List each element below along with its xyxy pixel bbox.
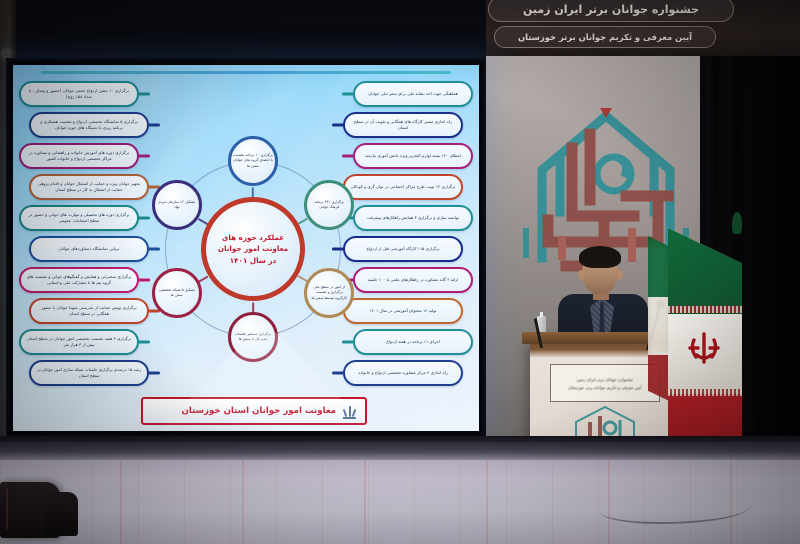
mindmap-node-text: برگزاری مستمر جلسات مدیر کل با سمن ها [231,330,275,345]
bubble-text: راه اندازی ۴ مرکز مشاوره تخصصی ازدواج و … [358,370,448,376]
slide-left-bubble: برپایی نمایشگاه دستاوردهای جوانان [29,236,149,262]
hub-line2: معاونت امور جوانان [218,243,288,255]
slide-right-bubble: اجرای ۱۱ برنامه در هفته ازدواج [353,329,473,355]
slide-left-bubble: برگزاری ۳ هفته نشست تخصصی امور جوانان در… [19,329,139,355]
slide-right-bubble: اعطای ۱۲۰ بسته لوازم التحریر ویژه دانش آ… [353,143,473,169]
conference-hall-scene: جشنواره جوانان برتر ایران زمین آیین معرف… [0,0,800,544]
slide-left-bubble: برگزاری پویش حمایت از تندرستی شهدا جوانا… [29,298,149,324]
mindmap-node-text: از امور در سطح ملی برگزاری و نشست کارگرو… [307,283,351,303]
bubble-text: هماهنگی جهت اخذ نشانه ملی برای سفر ملی ج… [368,91,457,97]
mindmap-node-text: تشکیل ۵ شبکه تخصصی سمن ها [155,286,199,301]
bubble-connector [138,93,150,96]
bubble-text: برگزاری سخنرانی و همایش و گفتگوهای جوانی… [26,274,132,287]
banner-subtitle-plaque: آیین معرفی و تکریم جوانان برتر خوزستان [494,26,716,48]
allah-emblem-icon [686,331,722,365]
slide-left-bubble: برگزاری ۱۰ جشن ازدواج جمعی جوانان (حضور … [19,81,139,107]
bubble-text: اجرای ۱۱ برنامه در هفته ازدواج [386,339,440,345]
bubble-text: برپایی نمایشگاه دستاوردهای جوانان [59,246,120,252]
flag-kufic-band-bottom [668,389,742,396]
slide-left-bubble: برگزاری سخنرانی و همایش و گفتگوهای جوانی… [19,267,139,293]
backdrop-top-banner: جشنواره جوانان برتر ایران زمین آیین معرف… [486,0,800,56]
slide-left-bubble: برگزاری دوره های تحصیلی و مهارت های جوان… [19,205,139,231]
bubble-text: تجهیز جوانان ویژه و حمایت از اشتغال جوان… [36,181,142,194]
flag-finial [732,212,742,234]
podium-sign-line1: جشنواره جوانان برتر ایران زمین [577,377,633,382]
banner-title-line2: آیین معرفی و تکریم جوانان برتر خوزستان [518,32,692,42]
slide-left-bubble: تجهیز جوانان ویژه و حمایت از اشتغال جوان… [29,174,149,200]
bubble-text: رشد ۱۵ درصدی برگزاری جلسات شبکه سازی امو… [36,367,142,380]
slide-left-column: برگزاری ۱۰ جشن ازدواج جمعی جوانان (حضور … [19,81,151,425]
mindmap-node-text: برگزاری ۱۰ برنامه نشست با اعضای گروه های… [231,151,275,171]
bubble-text: اعطای ۱۲۰ بسته لوازم التحریر ویژه دانش آ… [365,153,461,159]
slide-right-bubble: هماهنگی جهت اخذ نشانه ملی برای سفر ملی ج… [353,81,473,107]
banner-title-plaque: جشنواره جوانان برتر ایران زمین [488,0,734,22]
mindmap-node: برگزاری ۳۳۱ برنامه فرهنگ جوانی [304,180,354,230]
slide-top-rule [41,71,451,74]
slide-left-bubble: برگزاری دوره های آموزش خانواده و راهنمای… [19,143,139,169]
flag-green-band [668,228,742,314]
bubble-connector [342,93,354,96]
stage-edge [0,442,800,460]
mindmap-node-text: برگزاری ۳۳۱ برنامه فرهنگ جوانی [307,198,351,213]
mindmap-node: تشکیل ۵ شبکه تخصصی سمن ها [152,268,202,318]
slide-left-bubble: برگزاری ۵ نمایشگاه تخصصی ازدواج و نشست ه… [29,112,149,138]
bubble-text: ارائه ۴ گانه مشاوره در راهکارهای علمی تا… [368,277,459,283]
podium-sign: جشنواره جوانان برتر ایران زمین آیین معرف… [550,364,660,402]
slide-mindmap: برگزاری ۱۰ برنامه نشست با اعضای گروه های… [135,99,371,399]
slide-right-bubble: توانمند سازی و برگزاری ۳ همایش راهکارهای… [353,205,473,231]
flag-kufic-band-top [668,306,742,313]
bubble-text: برگزاری دوره های تحصیلی و مهارت های جوان… [26,212,132,225]
hub-line1: عملکرد حوزه های [218,232,288,244]
mindmap-node: برگزاری مستمر جلسات مدیر کل با سمن ها [228,312,278,362]
iran-national-emblem-icon [342,404,357,419]
bubble-text: برگزاری ۳ هفته نشست تخصصی امور جوانان در… [26,336,132,349]
hub-line3: در سال ۱۴۰۱ [218,255,288,267]
slide-footer-text: معاونت امور جوانان استان خوزستان [182,406,336,416]
mindmap-center-hub: عملکرد حوزه های معاونت امور جوانان در سا… [201,197,305,301]
bubble-text: برگزاری ۱۱۵ کارگاه آموزشی قبل از ازدواج [366,246,439,252]
speaker-ear-right [617,270,623,280]
mindmap-node-text: تشکیل ۱۲ سازمان مردم نهاد [155,198,199,213]
mindmap-node: برگزاری ۱۰ برنامه نشست با اعضای گروه های… [228,136,278,186]
speaker-hair [579,246,621,268]
bubble-text: برگزاری پویش حمایت از تندرستی شهدا جوانا… [36,305,142,318]
slide-left-bubble: رشد ۱۵ درصدی برگزاری جلسات شبکه سازی امو… [29,360,149,386]
bubble-text: برگزاری ۱۰ جشن ازدواج جمعی جوانان (حضور … [26,88,132,101]
projection-screen: برگزاری ۱۰ جشن ازدواج جمعی جوانان (حضور … [13,65,479,431]
bubble-text: برگزاری دوره های آموزش خانواده و راهنمای… [26,150,132,163]
bubble-text: توانمند سازی و برگزاری ۳ همایش راهکارهای… [367,215,459,221]
mindmap-node: تشکیل ۱۲ سازمان مردم نهاد [152,180,202,230]
podium-sign-line2: آیین معرفی و تکریم جوانان برتر خوزستان [569,385,642,390]
bubble-text: تولید ۱۲ محتوای آموزشی در سال ۱۴۰۱ [369,308,436,314]
banner-title-line1: جشنواره جوانان برتر ایران زمین [523,3,699,16]
speaker-ear-left [578,270,584,280]
stage-monitor-speaker-2 [44,492,78,536]
slide-right-bubble: ارائه ۴ گانه مشاوره در راهکارهای علمی تا… [353,267,473,293]
mindmap-node: از امور در سطح ملی برگزاری و نشست کارگرو… [304,268,354,318]
slide-footer-banner: معاونت امور جوانان استان خوزستان [141,397,367,425]
bubble-text: برگزاری ۵ نمایشگاه تخصصی ازدواج و نشست ه… [36,119,142,132]
hub-text: عملکرد حوزه های معاونت امور جوانان در سا… [218,232,288,267]
projection-screen-frame: برگزاری ۱۰ جشن ازدواج جمعی جوانان (حضور … [6,58,486,438]
